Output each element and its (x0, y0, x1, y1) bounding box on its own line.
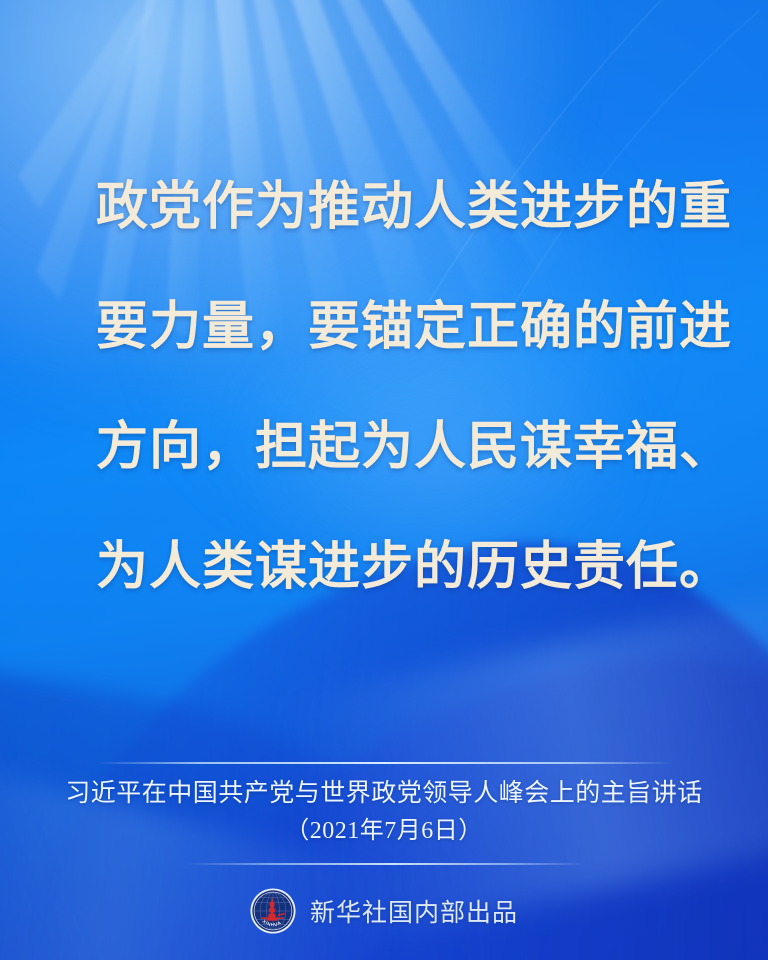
caption-date: （2021年7月6日） (0, 812, 768, 850)
caption-source: 习近平在中国共产党与世界政党领导人峰会上的主旨讲话 (0, 776, 768, 812)
divider-above-footer (186, 863, 586, 865)
footer-block: XINHUA 新华社国内部出品 (0, 888, 768, 934)
caption-block: 习近平在中国共产党与世界政党领导人峰会上的主旨讲话 （2021年7月6日） (0, 776, 768, 850)
footer-label: 新华社国内部出品 (310, 893, 518, 929)
divider-above-caption (96, 762, 672, 764)
quote-poster: 政党作为推动人类进步的重 要力量，要锚定正确的前进 方向，担起为人民谋幸福、 为… (0, 0, 768, 960)
quote-line-2: 要力量，要锚定正确的前进 (96, 268, 696, 388)
quote-line-1: 政党作为推动人类进步的重 (96, 148, 696, 268)
quote-line-3: 方向，担起为人民谋幸福、 (96, 388, 696, 508)
xinhua-logo-icon: XINHUA (250, 888, 296, 934)
quote-line-4: 为人类谋进步的历史责任。 (96, 508, 696, 628)
quote-block: 政党作为推动人类进步的重 要力量，要锚定正确的前进 方向，担起为人民谋幸福、 为… (96, 148, 696, 628)
